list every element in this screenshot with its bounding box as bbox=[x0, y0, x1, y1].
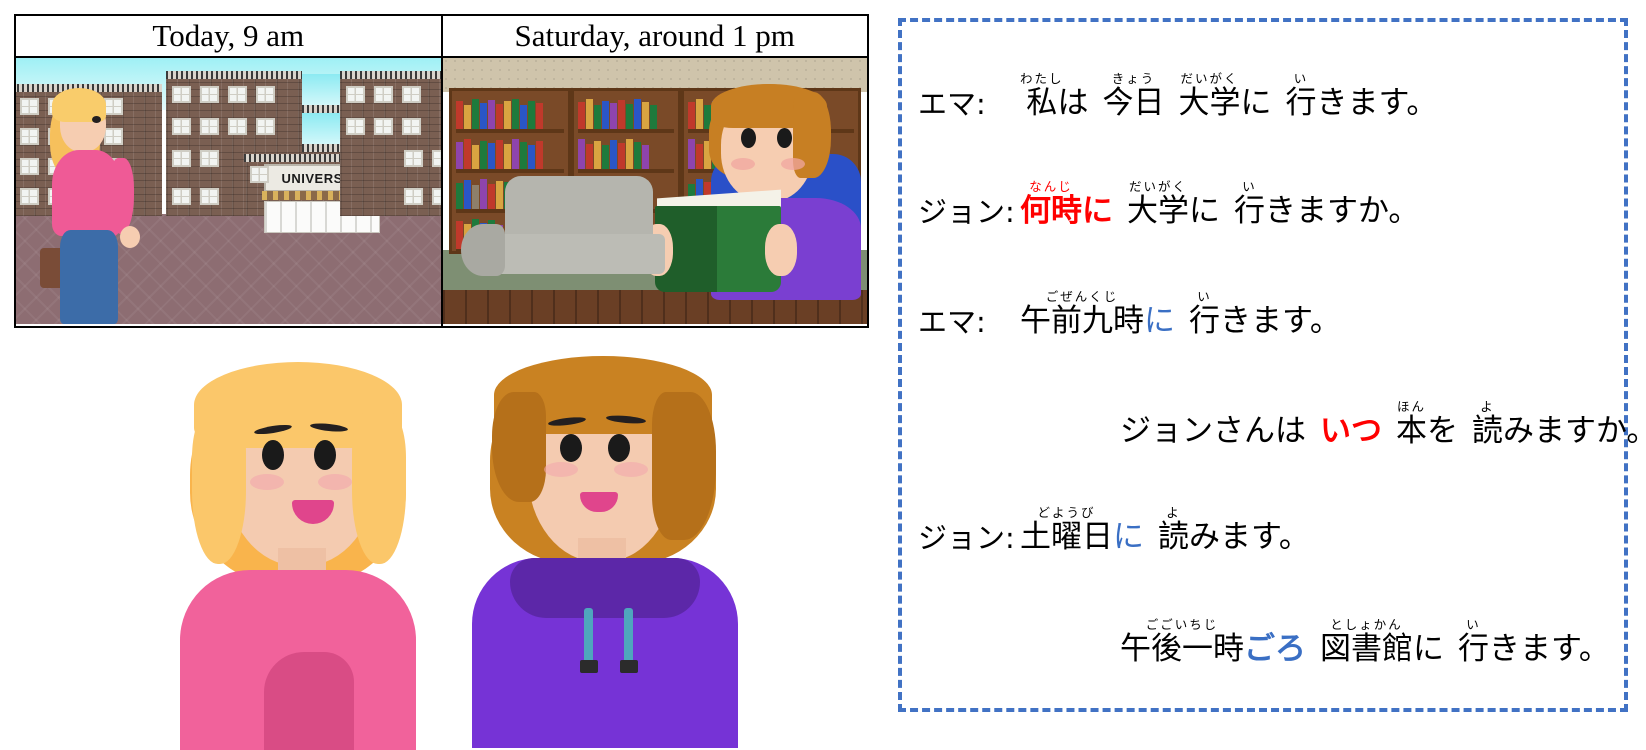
text-segment: きます。 bbox=[1220, 303, 1341, 339]
text-segment: に bbox=[1189, 193, 1220, 229]
window bbox=[172, 150, 191, 167]
book bbox=[618, 143, 625, 169]
ruby-word: 本ほん bbox=[1396, 413, 1427, 449]
ruby-base: 本 bbox=[1396, 413, 1427, 449]
ruby-base: 午前九時 bbox=[1020, 303, 1144, 339]
text-segment: ごろ bbox=[1244, 631, 1306, 667]
text-segment: きます。 bbox=[1489, 631, 1610, 667]
book bbox=[626, 104, 633, 129]
hair-left-strand bbox=[192, 412, 246, 564]
book bbox=[472, 145, 479, 169]
hand-right bbox=[765, 224, 797, 276]
university-scene-illustration: UNIVERSITY bbox=[16, 58, 441, 324]
window bbox=[20, 158, 39, 175]
eye bbox=[777, 128, 792, 148]
text-segment: に bbox=[1144, 303, 1175, 339]
book bbox=[626, 139, 633, 169]
ruby-base: 何時 bbox=[1020, 193, 1082, 229]
book bbox=[488, 100, 495, 129]
book bbox=[536, 141, 543, 169]
cornice-right bbox=[340, 71, 441, 79]
book bbox=[472, 99, 479, 129]
book bbox=[464, 105, 471, 129]
book bbox=[618, 100, 625, 129]
furigana: わたし bbox=[1020, 71, 1064, 86]
furigana: ごごいちじ bbox=[1120, 617, 1244, 632]
book bbox=[594, 105, 601, 129]
book bbox=[496, 104, 503, 129]
book bbox=[650, 105, 657, 129]
ruby-word: 土曜日どようび bbox=[1020, 519, 1113, 555]
ruby-word: 午後一時ごごいちじ bbox=[1120, 631, 1244, 667]
ruby-base: 今日 bbox=[1103, 85, 1165, 121]
sky-gap-upper bbox=[302, 74, 340, 106]
book bbox=[634, 99, 641, 129]
shelf-row bbox=[578, 135, 674, 173]
text-segment: に bbox=[1113, 519, 1144, 555]
dialogue-speaker: ジョン: bbox=[902, 524, 1020, 553]
ruby-word: 行い bbox=[1234, 193, 1265, 229]
scene-comparison-table: Today, 9 am Saturday, around 1 pm bbox=[14, 14, 869, 328]
sky-gap-lower bbox=[302, 113, 340, 145]
legs-jeans bbox=[60, 230, 118, 324]
cornice-notch-upper bbox=[302, 105, 340, 113]
eye bbox=[741, 128, 756, 148]
window bbox=[200, 188, 219, 205]
ruby-word: 読よ bbox=[1472, 413, 1503, 449]
window-row bbox=[346, 86, 421, 103]
john-portrait bbox=[466, 352, 746, 745]
ruby-word: 行い bbox=[1458, 631, 1489, 667]
dialogue-speaker: エマ: bbox=[902, 308, 1020, 337]
window bbox=[374, 86, 393, 103]
furigana: い bbox=[1286, 71, 1317, 86]
shelf-row bbox=[456, 95, 564, 133]
furigana: よ bbox=[1158, 505, 1189, 520]
sofa-armrest bbox=[461, 224, 505, 276]
ruby-base: 行 bbox=[1189, 303, 1220, 339]
window-row bbox=[172, 150, 219, 167]
emma-portrait bbox=[168, 352, 428, 745]
book bbox=[512, 139, 519, 169]
window bbox=[104, 128, 123, 145]
scene-header-today: Today, 9 am bbox=[15, 15, 442, 57]
eye-right bbox=[314, 440, 336, 470]
book bbox=[586, 99, 593, 129]
book bbox=[480, 179, 487, 209]
book bbox=[520, 105, 527, 129]
hair-right-side bbox=[652, 392, 716, 540]
window bbox=[172, 118, 191, 135]
dialogue-line: ジョンさんはいつ本ほんを読よみますか。 bbox=[902, 400, 1624, 447]
window bbox=[20, 188, 39, 205]
shelf-row bbox=[578, 95, 674, 133]
ruby-base: 午後一時 bbox=[1120, 631, 1244, 667]
book bbox=[578, 102, 585, 129]
pink-top-shading bbox=[264, 652, 354, 750]
eye-left bbox=[560, 434, 582, 462]
furigana: だいがく bbox=[1179, 71, 1241, 86]
cornice-center-left bbox=[166, 71, 302, 79]
book bbox=[512, 99, 519, 129]
window bbox=[256, 118, 275, 135]
book bbox=[602, 145, 609, 169]
window bbox=[172, 86, 191, 103]
library-scene-illustration bbox=[443, 58, 868, 324]
blush-left bbox=[250, 474, 284, 490]
window-row bbox=[172, 86, 275, 103]
book bbox=[504, 101, 511, 129]
ruby-base: 行 bbox=[1234, 193, 1265, 229]
blush bbox=[731, 158, 755, 170]
book bbox=[536, 103, 543, 129]
hair-left-side bbox=[492, 392, 546, 502]
book bbox=[480, 103, 487, 129]
ceiling-wall bbox=[443, 58, 868, 92]
ruby-base: 大学 bbox=[1179, 85, 1241, 121]
text-segment: に bbox=[1413, 631, 1444, 667]
text-segment: いつ bbox=[1320, 413, 1382, 449]
furigana: ごぜんくじ bbox=[1020, 289, 1144, 304]
book bbox=[594, 141, 601, 169]
ruby-word: 図書館としょかん bbox=[1320, 631, 1413, 667]
window bbox=[200, 118, 219, 135]
book bbox=[456, 101, 463, 129]
ruby-word: 行い bbox=[1189, 303, 1220, 339]
ruby-base: 行 bbox=[1286, 85, 1317, 121]
furigana: きょう bbox=[1103, 71, 1165, 86]
window-row bbox=[404, 188, 441, 205]
book bbox=[472, 185, 479, 209]
text-segment: に bbox=[1082, 193, 1113, 229]
window bbox=[104, 98, 123, 115]
book bbox=[464, 180, 471, 209]
window bbox=[200, 150, 219, 167]
furigana: よ bbox=[1472, 399, 1503, 414]
ruby-word: 午前九時ごぜんくじ bbox=[1020, 303, 1144, 339]
dialogue-sentence: 何時なんじに大学だいがくに行いきますか。 bbox=[1020, 180, 1419, 227]
book bbox=[464, 139, 471, 169]
shelf-row bbox=[456, 135, 564, 173]
furigana: い bbox=[1189, 289, 1220, 304]
character-portraits bbox=[0, 352, 880, 745]
ruby-base: 読 bbox=[1158, 519, 1189, 555]
furigana: だいがく bbox=[1127, 179, 1189, 194]
dialogue-sentence: 午後一時ごごいちじごろ図書館としょかんに行いきます。 bbox=[1120, 618, 1610, 665]
book bbox=[642, 145, 649, 169]
scene-header-saturday: Saturday, around 1 pm bbox=[442, 15, 869, 57]
book bbox=[642, 102, 649, 129]
window bbox=[172, 188, 191, 205]
book bbox=[578, 139, 585, 169]
ruby-base: 読 bbox=[1472, 413, 1503, 449]
window bbox=[20, 98, 39, 115]
text-segment: きます。 bbox=[1317, 85, 1438, 121]
book bbox=[610, 140, 617, 169]
book bbox=[496, 140, 503, 169]
window bbox=[432, 150, 441, 167]
book bbox=[602, 101, 609, 129]
book bbox=[610, 103, 617, 129]
window bbox=[346, 118, 365, 135]
window-row bbox=[172, 118, 275, 135]
text-segment: を bbox=[1427, 413, 1458, 449]
ruby-base: 土曜日 bbox=[1020, 519, 1113, 555]
dialogue-speaker: ジョン: bbox=[902, 198, 1020, 227]
book bbox=[688, 139, 695, 169]
dialogue-line: エマ:私わたしは今日きょう大学だいがくに行いきます。 bbox=[902, 72, 1624, 119]
scene-header-row: Today, 9 am Saturday, around 1 pm bbox=[15, 15, 868, 57]
book bbox=[456, 142, 463, 169]
drawstring-tip-left bbox=[580, 660, 598, 673]
eye-right bbox=[608, 434, 630, 462]
dialogue-sentence: 私わたしは今日きょう大学だいがくに行いきます。 bbox=[1020, 72, 1437, 119]
book bbox=[696, 144, 703, 169]
book bbox=[688, 102, 695, 129]
dialogue-lines: エマ:私わたしは今日きょう大学だいがくに行いきます。ジョン:何時なんじに大学だい… bbox=[902, 22, 1624, 708]
scene-cell-university: UNIVERSITY bbox=[15, 57, 442, 327]
blush-right bbox=[614, 462, 648, 477]
furigana: どようび bbox=[1020, 505, 1113, 520]
ruby-word: 大学だいがく bbox=[1179, 85, 1241, 121]
dialogue-sentence: ジョンさんはいつ本ほんを読よみますか。 bbox=[1120, 400, 1646, 447]
cornice-notch-lower bbox=[302, 144, 340, 152]
window bbox=[20, 128, 39, 145]
window bbox=[374, 118, 393, 135]
window-row bbox=[172, 188, 219, 205]
window bbox=[228, 118, 247, 135]
text-segment: みますか。 bbox=[1503, 413, 1646, 449]
book bbox=[480, 141, 487, 169]
furigana: い bbox=[1458, 617, 1489, 632]
window bbox=[404, 150, 423, 167]
book bbox=[488, 184, 495, 209]
window bbox=[432, 188, 441, 205]
sofa-seat bbox=[489, 234, 665, 274]
left-illustration-panel: Today, 9 am Saturday, around 1 pm bbox=[0, 0, 880, 745]
furigana: としょかん bbox=[1320, 617, 1413, 632]
book bbox=[528, 101, 535, 129]
book bbox=[496, 181, 503, 209]
blush-right bbox=[318, 474, 352, 490]
dialogue-line: エマ:午前九時ごぜんくじに行いきます。 bbox=[902, 290, 1624, 337]
book bbox=[520, 142, 527, 169]
book bbox=[634, 142, 641, 169]
ruby-word: 大学だいがく bbox=[1127, 193, 1189, 229]
text-segment: に bbox=[1241, 85, 1272, 121]
furigana: なんじ bbox=[1020, 179, 1082, 194]
book bbox=[504, 144, 511, 169]
arm bbox=[108, 158, 134, 234]
scene-cell-library bbox=[442, 57, 869, 327]
text-segment: は bbox=[1058, 85, 1089, 121]
ruby-base: 行 bbox=[1458, 631, 1489, 667]
eye bbox=[92, 116, 101, 123]
furigana: ほん bbox=[1396, 399, 1427, 414]
dialogue-box: エマ:私わたしは今日きょう大学だいがくに行いきます。ジョン:何時なんじに大学だい… bbox=[898, 18, 1628, 712]
text-segment: ジョンさんは bbox=[1120, 413, 1306, 449]
window-row bbox=[346, 118, 421, 135]
ruby-word: 読よ bbox=[1158, 519, 1189, 555]
dialogue-line: 午後一時ごごいちじごろ図書館としょかんに行いきます。 bbox=[902, 618, 1624, 665]
ruby-word: 今日きょう bbox=[1103, 85, 1165, 121]
eye-left bbox=[262, 440, 284, 470]
hood-collar bbox=[510, 558, 700, 618]
window bbox=[402, 118, 421, 135]
window bbox=[346, 86, 365, 103]
window bbox=[250, 166, 269, 183]
dialogue-line: ジョン:何時なんじに大学だいがくに行いきますか。 bbox=[902, 180, 1624, 227]
drawstring-right bbox=[624, 608, 633, 666]
scene-image-row: UNIVERSITY bbox=[15, 57, 868, 327]
book bbox=[696, 99, 703, 129]
ruby-base: 図書館 bbox=[1320, 631, 1413, 667]
book bbox=[528, 145, 535, 169]
dialogue-sentence: 午前九時ごぜんくじに行いきます。 bbox=[1020, 290, 1341, 337]
window bbox=[200, 86, 219, 103]
text-segment: きますか。 bbox=[1265, 193, 1419, 229]
dialogue-sentence: 土曜日どようびに読よみます。 bbox=[1020, 506, 1310, 553]
book bbox=[586, 144, 593, 169]
ruby-word: 行い bbox=[1286, 85, 1317, 121]
book bbox=[456, 183, 463, 209]
dialogue-line: ジョン:土曜日どようびに読よみます。 bbox=[902, 506, 1624, 553]
window bbox=[256, 86, 275, 103]
ruby-base: 大学 bbox=[1127, 193, 1189, 229]
text-segment: みます。 bbox=[1189, 519, 1310, 555]
furigana: い bbox=[1234, 179, 1265, 194]
book bbox=[488, 143, 495, 169]
hair-right-strand bbox=[352, 412, 406, 564]
window bbox=[404, 188, 423, 205]
blush-left bbox=[544, 462, 578, 477]
window-row bbox=[404, 150, 441, 167]
drawstring-left bbox=[584, 608, 593, 666]
dialogue-speaker: エマ: bbox=[902, 90, 1020, 119]
ruby-word: 私わたし bbox=[1020, 85, 1058, 121]
drawstring-tip-right bbox=[620, 660, 638, 673]
window bbox=[228, 86, 247, 103]
blush bbox=[781, 158, 805, 170]
window bbox=[402, 86, 421, 103]
ruby-word: 何時なんじ bbox=[1020, 193, 1082, 229]
hand bbox=[120, 226, 140, 248]
